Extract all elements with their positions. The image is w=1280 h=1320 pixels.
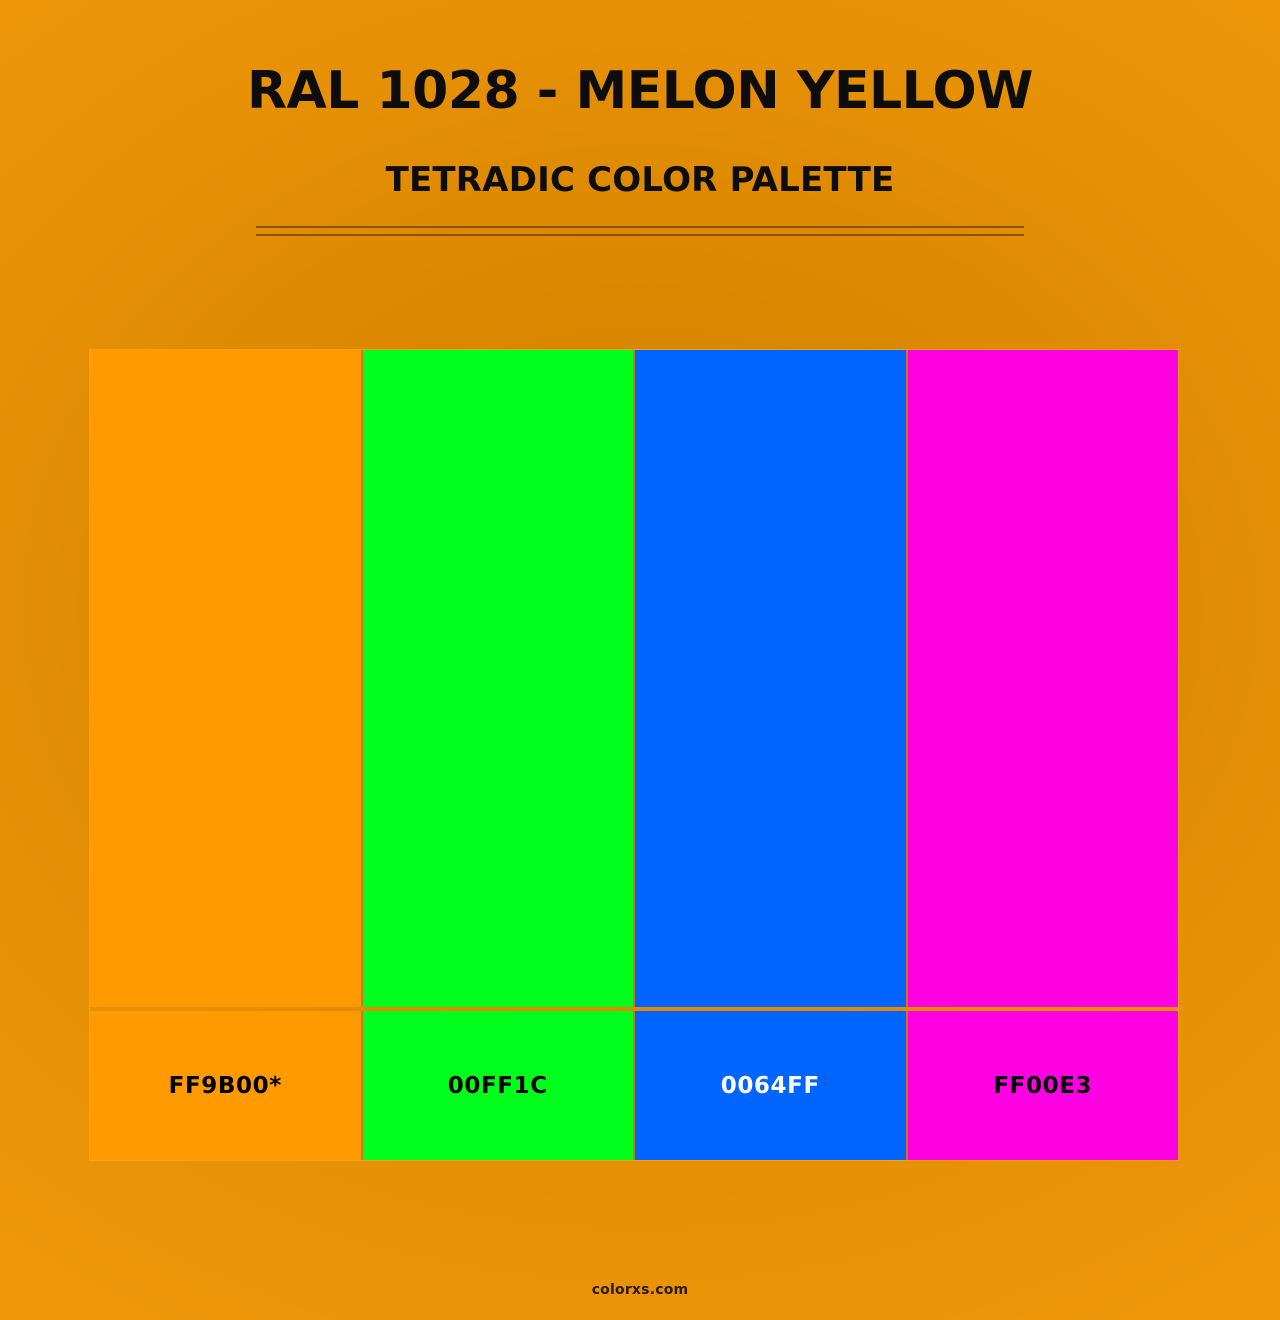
swatch-label-cell[interactable]: FF00E3 — [908, 1011, 1179, 1160]
swatch-label-cell[interactable]: 00FF1C — [363, 1011, 634, 1160]
page-title: RAL 1028 - MELON YELLOW — [0, 64, 1280, 119]
palette-panel: FF9B00* 00FF1C 0064FF FF00E3 — [90, 350, 1178, 1160]
swatch-label-cell[interactable]: 0064FF — [635, 1011, 906, 1160]
label-row: FF9B00* 00FF1C 0064FF FF00E3 — [90, 1011, 1178, 1160]
swatch-hex-label: 0064FF — [721, 1073, 820, 1099]
color-swatch[interactable] — [635, 350, 906, 1007]
site-credit[interactable]: colorxs.com — [592, 1282, 689, 1298]
title-divider — [256, 226, 1024, 236]
swatch-row — [90, 350, 1178, 1007]
page-subtitle: TETRADIC COLOR PALETTE — [0, 119, 1280, 199]
color-swatch[interactable] — [908, 350, 1179, 1007]
swatch-hex-label: FF00E3 — [993, 1073, 1092, 1099]
swatch-hex-label: FF9B00* — [169, 1073, 282, 1099]
color-palette-page: RAL 1028 - MELON YELLOW TETRADIC COLOR P… — [0, 0, 1280, 1320]
color-swatch[interactable] — [363, 350, 634, 1007]
swatch-hex-label: 00FF1C — [448, 1073, 548, 1099]
header: RAL 1028 - MELON YELLOW TETRADIC COLOR P… — [0, 0, 1280, 236]
footer: colorxs.com — [0, 1279, 1280, 1298]
swatch-label-cell[interactable]: FF9B00* — [90, 1011, 361, 1160]
color-swatch[interactable] — [90, 350, 361, 1007]
